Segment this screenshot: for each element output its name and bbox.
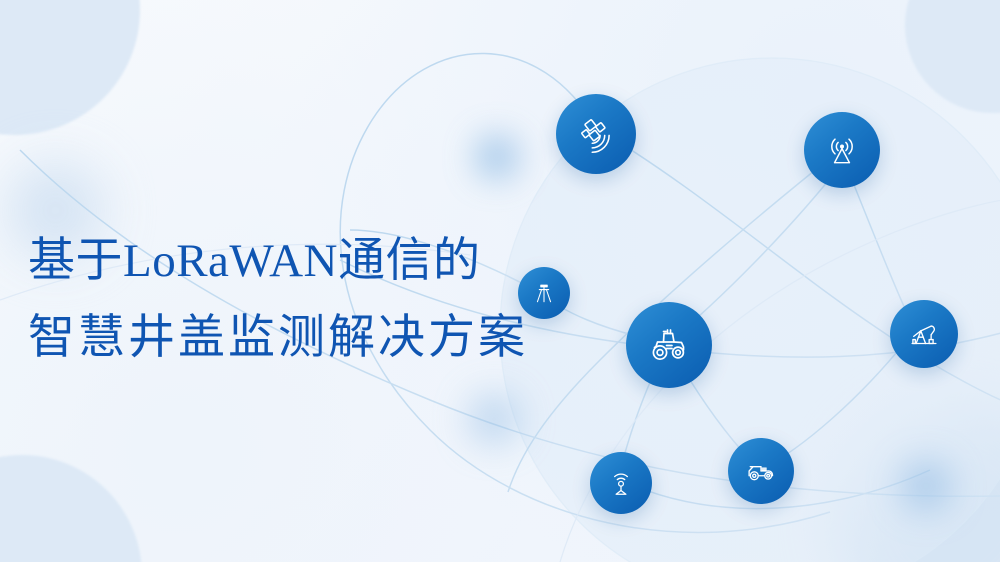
oil-pumpjack-icon[interactable] bbox=[890, 300, 958, 368]
title-line-1: 基于LoRaWAN通信的 bbox=[28, 228, 648, 295]
radio-tower-icon[interactable] bbox=[804, 112, 880, 188]
wireless-sensor-icon[interactable] bbox=[590, 452, 652, 514]
slide-canvas: 基于LoRaWAN通信的 智慧井盖监测解决方案 bbox=[0, 0, 1000, 562]
title-line-2: 智慧井盖监测解决方案 bbox=[28, 305, 648, 372]
harvester-vehicle-icon[interactable] bbox=[728, 438, 794, 504]
page-title: 基于LoRaWAN通信的 智慧井盖监测解决方案 bbox=[28, 228, 648, 371]
satellite-dish-icon[interactable] bbox=[556, 94, 636, 174]
